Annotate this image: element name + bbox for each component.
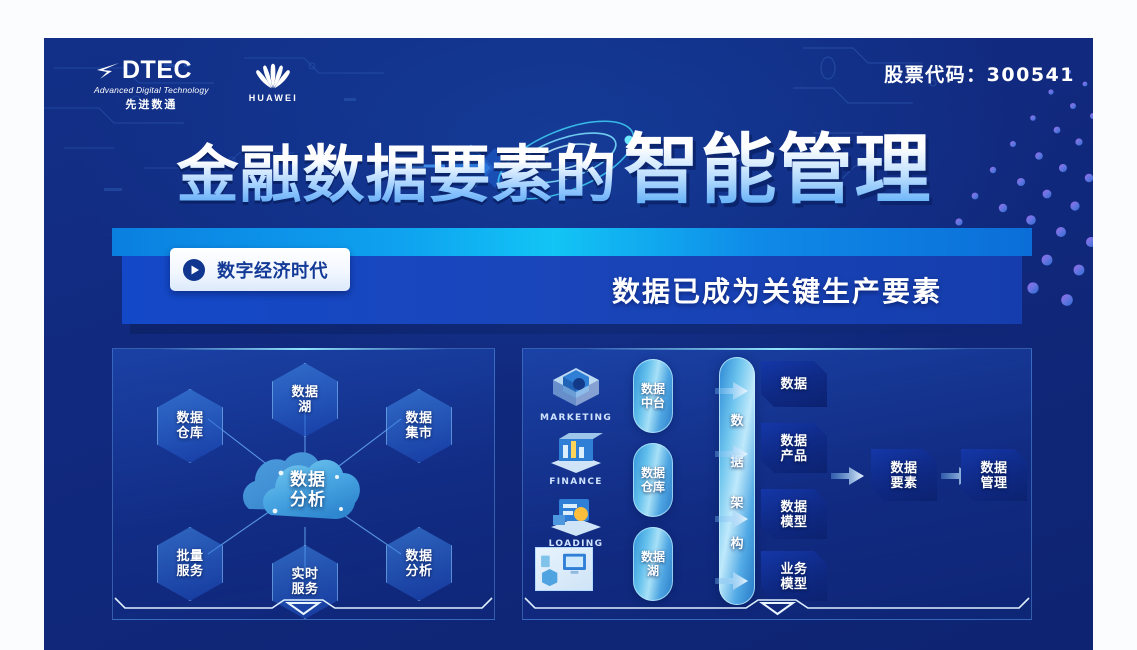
node-batch-service[interactable]: 批量服务 [157, 527, 223, 601]
output-box-data-model[interactable]: 数据模型 [761, 489, 827, 539]
node-data-warehouse[interactable]: 数据仓库 [157, 389, 223, 463]
subtitle-banner: 数字经济时代 数据已成为关键生产要素 [112, 228, 1032, 333]
source-label-marketing: MARKETING [530, 413, 622, 423]
arrow-right-icon [831, 466, 865, 486]
page-title: 金融数据要素的智能管理 [44, 133, 1064, 209]
dtec-arrow-icon [94, 61, 120, 81]
output-box-data-product[interactable]: 数据产品 [761, 423, 827, 473]
dtec-logo: DTEC Advanced Digital Technology 先进数通 [94, 58, 209, 112]
stage-data-midend[interactable]: 数据中台 [633, 359, 673, 433]
dashboard-screen-icon [535, 547, 593, 591]
arch-char-3: 构 [730, 533, 743, 552]
huawei-wordmark: HUAWEI [249, 93, 298, 103]
title-block: 金融数据要素的智能管理 [44, 108, 1093, 228]
arrow-right-icon [715, 509, 749, 529]
node-data-lake[interactable]: 数据湖 [272, 363, 338, 437]
banner-shadow [130, 324, 1010, 334]
chart-server-icon [545, 429, 607, 475]
panel-top-glow [159, 348, 449, 350]
arrow-right-icon [715, 381, 749, 401]
huawei-flower-icon [251, 60, 295, 90]
data-element-box[interactable]: 数据要素 [871, 449, 937, 501]
output-box-data[interactable]: 数据 [761, 361, 827, 407]
dtec-tagline: Advanced Digital Technology [94, 85, 209, 95]
play-circle-icon [182, 258, 206, 282]
node-data-analysis[interactable]: 数据分析 [386, 527, 452, 601]
cloud-center-label: 数据 分析 [241, 443, 363, 531]
stage-data-lake[interactable]: 数据湖 [633, 527, 673, 601]
source-label-finance: FINANCE [530, 477, 622, 487]
section-badge-label: 数字经济时代 [217, 257, 328, 283]
right-flow-panel: MARKETING FINANCE LOADING [522, 348, 1032, 620]
brand-logos: DTEC Advanced Digital Technology 先进数通 HU… [94, 58, 298, 112]
banner-headline: 数据已成为关键生产要素 [542, 256, 1012, 324]
page-title-part1: 金融数据要素的 [176, 141, 617, 210]
arch-char-0: 数 [730, 410, 743, 429]
panel-top-glow [584, 348, 970, 350]
left-diagram-panel: 数据仓库 数据湖 数据集市 批量服务 实时服务 数据分析 [112, 348, 495, 620]
loading-stack-icon [545, 491, 607, 537]
node-realtime-service[interactable]: 实时服务 [272, 545, 338, 619]
huawei-logo: HUAWEI [249, 58, 298, 103]
stock-code: 股票代码：300541 [884, 60, 1075, 87]
dtec-wordmark: DTEC [122, 58, 192, 83]
arrow-right-icon [715, 444, 749, 464]
output-box-business-model[interactable]: 业务模型 [761, 551, 827, 601]
node-data-mart[interactable]: 数据集市 [386, 389, 452, 463]
cube-box-icon [545, 365, 607, 411]
slide-canvas: DTEC Advanced Digital Technology 先进数通 HU… [44, 38, 1093, 650]
section-badge[interactable]: 数字经济时代 [170, 248, 350, 291]
arrow-right-icon [715, 571, 749, 591]
page-title-part2: 智能管理 [624, 128, 932, 213]
data-governance-box[interactable]: 数据管理 [961, 449, 1027, 501]
stage-data-warehouse[interactable]: 数据仓库 [633, 443, 673, 517]
